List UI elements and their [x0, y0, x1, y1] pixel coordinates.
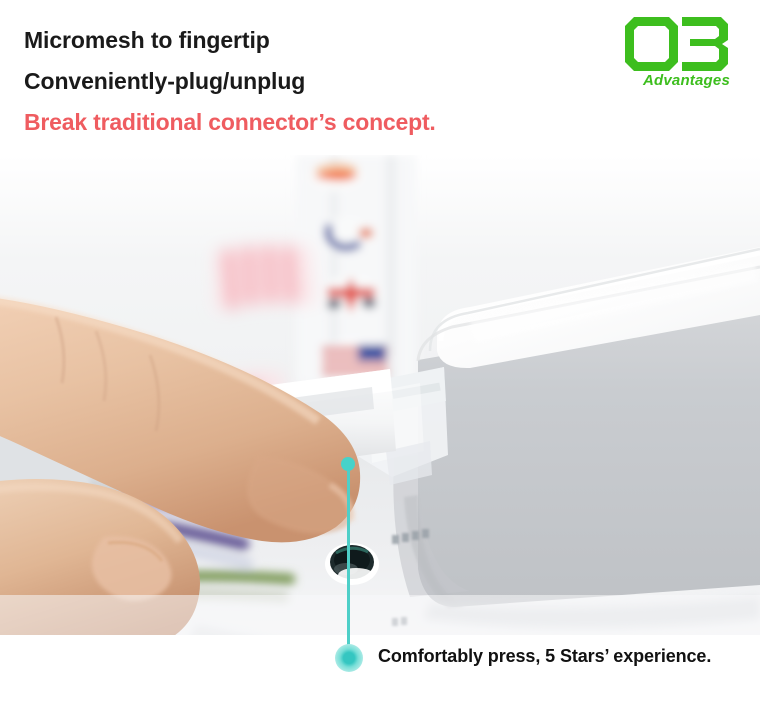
callout-caption: Comfortably press, 5 Stars’ experience.	[378, 646, 711, 667]
callout-anchor-dot	[341, 457, 355, 471]
badge-number-icon	[622, 14, 732, 74]
badge-number	[622, 14, 732, 74]
flag-buttons-icon	[296, 155, 416, 385]
striped-tube-icon	[214, 245, 316, 311]
headline-block: Micromesh to fingertip Conveniently-plug…	[24, 20, 624, 143]
callout-marker-dot	[335, 644, 363, 672]
product-photo-illustration	[0, 155, 760, 635]
product-photo	[0, 155, 760, 635]
slide-root: Micromesh to fingertip Conveniently-plug…	[0, 0, 760, 707]
header-band: Micromesh to fingertip Conveniently-plug…	[0, 0, 760, 155]
badge-subtitle: Advantages	[622, 72, 732, 89]
headline-line-1: Micromesh to fingertip	[24, 20, 624, 61]
callout-connector-line	[347, 464, 350, 658]
headline-accent-line: Break traditional connector’s concept.	[24, 102, 624, 143]
headline-line-2: Conveniently-plug/unplug	[24, 61, 624, 102]
advantages-badge: Advantages	[622, 14, 732, 106]
latch-button-icon	[325, 543, 379, 585]
